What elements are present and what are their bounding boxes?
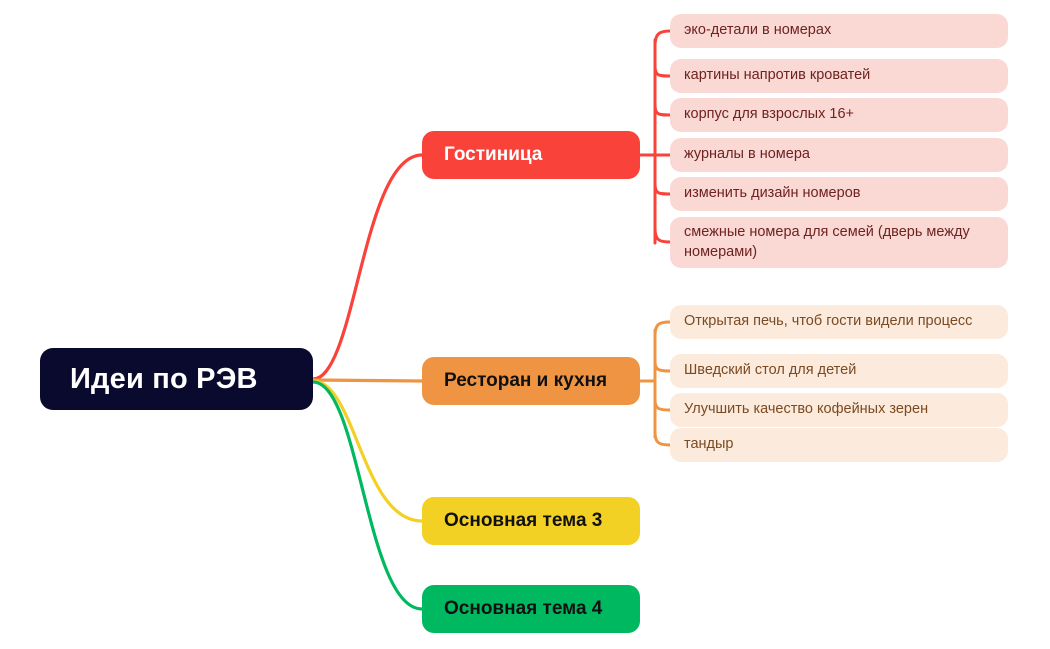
- leaf-node[interactable]: Открытая печь, чтоб гости видели процесс: [670, 305, 1008, 339]
- branch-node-topic3-label: Основная тема 3: [444, 510, 602, 532]
- branch-node-topic4-label: Основная тема 4: [444, 598, 602, 620]
- leaf-stub-hotel-5: [655, 184, 670, 194]
- connector-central-to-hotel: [313, 155, 422, 379]
- leaf-node[interactable]: эко-детали в номерах: [670, 14, 1008, 48]
- branch-node-restaurant[interactable]: Ресторан и кухня: [422, 357, 640, 405]
- branch-node-hotel[interactable]: Гостиница: [422, 131, 640, 179]
- leaf-node[interactable]: корпус для взрослых 16+: [670, 98, 1008, 132]
- leaf-stub-hotel-6: [655, 228, 670, 242]
- leaf-node[interactable]: Улучшить качество кофейных зерен: [670, 393, 1008, 427]
- branch-node-hotel-label: Гостиница: [444, 144, 542, 166]
- leaf-node-label: эко-детали в номерах: [684, 21, 831, 40]
- central-node[interactable]: Идеи по РЭВ: [40, 348, 313, 410]
- connector-central-to-topic3: [313, 381, 422, 521]
- leaf-node-label: Открытая печь, чтоб гости видели процесс: [684, 312, 972, 331]
- leaf-stub-restaurant-4: [655, 432, 670, 445]
- leaf-node[interactable]: смежные номера для семей (дверь между но…: [670, 217, 1008, 268]
- leaf-stub-restaurant-1: [655, 322, 670, 336]
- leaf-node-label: тандыр: [684, 435, 734, 454]
- leaf-node[interactable]: изменить дизайн номеров: [670, 177, 1008, 211]
- leaf-stub-restaurant-3: [655, 400, 670, 410]
- connector-central-to-restaurant: [313, 380, 422, 381]
- leaf-node-label: изменить дизайн номеров: [684, 184, 860, 203]
- branch-node-restaurant-label: Ресторан и кухня: [444, 370, 607, 392]
- leaf-node[interactable]: тандыр: [670, 428, 1008, 462]
- leaf-node-label: корпус для взрослых 16+: [684, 105, 854, 124]
- leaf-node-label: журналы в номера: [684, 145, 810, 164]
- leaf-node[interactable]: Шведский стол для детей: [670, 354, 1008, 388]
- leaf-stub-hotel-1: [655, 31, 670, 46]
- mindmap-canvas: Идеи по РЭВ Гостиница Ресторан и кухня О…: [0, 0, 1050, 649]
- leaf-node-label: Улучшить качество кофейных зерен: [684, 400, 928, 419]
- leaf-node-label: смежные номера для семей (дверь между но…: [684, 223, 994, 261]
- central-node-label: Идеи по РЭВ: [70, 363, 258, 396]
- leaf-node-label: картины напротив кроватей: [684, 66, 870, 85]
- leaf-stub-hotel-2: [655, 66, 670, 76]
- branch-node-topic3[interactable]: Основная тема 3: [422, 497, 640, 545]
- leaf-node-label: Шведский стол для детей: [684, 361, 856, 380]
- leaf-node[interactable]: журналы в номера: [670, 138, 1008, 172]
- connector-central-to-topic4: [313, 382, 422, 609]
- branch-node-topic4[interactable]: Основная тема 4: [422, 585, 640, 633]
- leaf-node[interactable]: картины напротив кроватей: [670, 59, 1008, 93]
- leaf-stub-hotel-3: [655, 105, 670, 115]
- leaf-stub-restaurant-2: [655, 362, 670, 371]
